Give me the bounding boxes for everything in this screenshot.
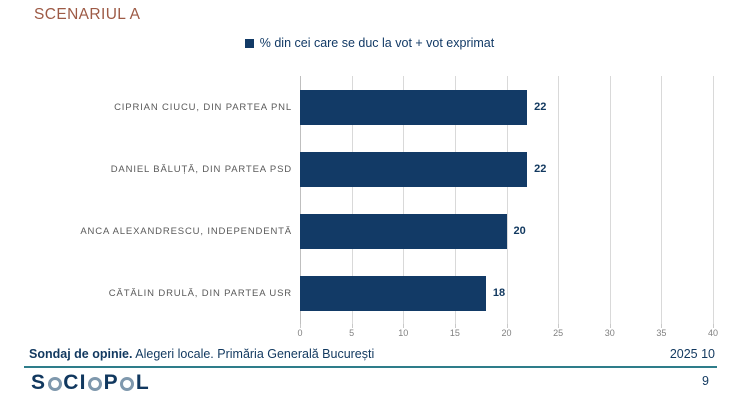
bar[interactable]	[300, 276, 486, 311]
bar-row: 18	[300, 276, 713, 311]
logo-letter-s: S	[31, 372, 46, 393]
bar-row: 22	[300, 152, 713, 187]
plot-area: 051015202530354022222018	[300, 76, 713, 324]
bar-value-label: 22	[534, 163, 546, 175]
logo-ring-o-icon	[120, 377, 134, 391]
footer-caption: Sondaj de opinie. Alegeri locale. Primăr…	[29, 347, 374, 361]
bar-value-label: 22	[534, 101, 546, 113]
bar[interactable]	[300, 214, 507, 249]
footer-caption-rest: Alegeri locale. Primăria Generală Bucure…	[132, 347, 374, 361]
legend-square-marker-icon	[245, 39, 254, 48]
slide-title: SCENARIUL A	[34, 6, 140, 24]
bar[interactable]	[300, 90, 527, 125]
bar[interactable]	[300, 152, 527, 187]
bar-row: 22	[300, 90, 713, 125]
x-axis-tick-label: 5	[349, 328, 354, 338]
x-axis-tick-label: 0	[297, 328, 302, 338]
x-axis-tick-label: 30	[605, 328, 615, 338]
footer-divider	[24, 366, 717, 368]
category-label: CĂTĂLIN DRULĂ, DIN PARTEA USR	[109, 276, 292, 311]
x-axis-tick-label: 25	[553, 328, 563, 338]
chart-legend: % din cei care se duc la vot + vot expri…	[0, 36, 739, 50]
logo-ring-o-icon	[48, 377, 62, 391]
bar-chart: CIPRIAN CIUCU, DIN PARTEA PNLDANIEL BĂLU…	[0, 62, 739, 327]
logo-letters-ci: CI	[63, 372, 86, 393]
gridline	[713, 76, 714, 324]
logo-letter-p: P	[104, 372, 119, 393]
category-axis-labels: CIPRIAN CIUCU, DIN PARTEA PNLDANIEL BĂLU…	[0, 76, 292, 324]
category-label: DANIEL BĂLUȚĂ, DIN PARTEA PSD	[111, 152, 292, 187]
x-axis-tick-label: 40	[708, 328, 718, 338]
x-axis-tick-label: 15	[450, 328, 460, 338]
category-label: ANCA ALEXANDRESCU, INDEPENDENTĂ	[80, 214, 292, 249]
bar-value-label: 18	[493, 287, 505, 299]
x-axis-tick-label: 10	[398, 328, 408, 338]
legend-label: % din cei care se duc la vot + vot expri…	[260, 36, 495, 50]
sociopol-logo: S CI P L	[31, 372, 150, 393]
footer-caption-bold: Sondaj de opinie.	[29, 347, 132, 361]
x-axis-tick-label: 35	[656, 328, 666, 338]
bar-value-label: 20	[514, 225, 526, 237]
logo-letter-l: L	[136, 372, 150, 393]
footer-date: 2025 10	[670, 347, 715, 361]
category-label: CIPRIAN CIUCU, DIN PARTEA PNL	[114, 90, 292, 125]
bar-row: 20	[300, 214, 713, 249]
x-axis-tick-label: 20	[501, 328, 511, 338]
page-number: 9	[702, 374, 709, 388]
logo-ring-o-icon	[88, 377, 102, 391]
